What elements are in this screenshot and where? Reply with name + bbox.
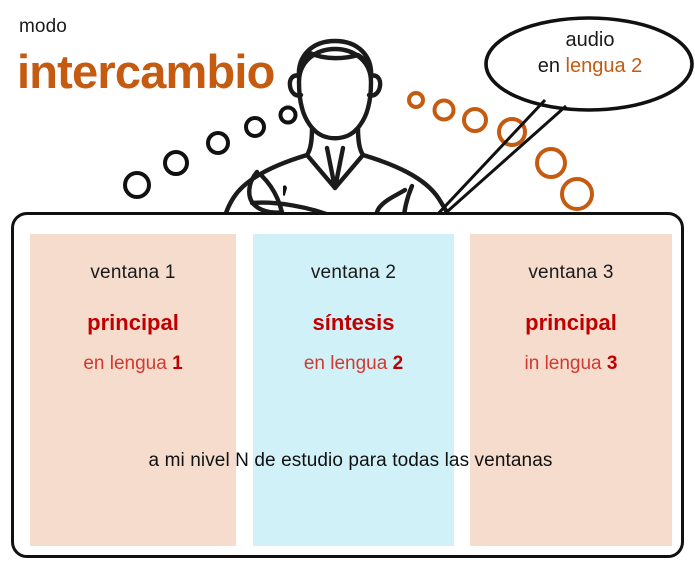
window-language-1-number: 1 xyxy=(172,353,183,374)
black-comma-mark xyxy=(283,185,287,196)
windows-panel: ventana 1 principal en lengua 1 ventana … xyxy=(11,212,684,558)
window-column-3-body: ventana 3 principal in lengua 3 xyxy=(470,234,672,375)
window-language-1-prefix: en lengua xyxy=(83,353,172,374)
window-role-1: principal xyxy=(30,310,236,336)
balloon-line-2-prefix: en xyxy=(538,55,566,77)
window-language-1: en lengua 1 xyxy=(30,353,236,375)
window-language-2-prefix: en lengua xyxy=(304,353,393,374)
window-column-2-body: ventana 2 síntesis en lengua 2 xyxy=(253,234,454,375)
window-label-3: ventana 3 xyxy=(470,262,672,284)
person-crossed-arms-icon xyxy=(223,41,455,225)
balloon-line-2: en lengua 2 xyxy=(510,53,670,79)
speech-balloon-text: audio en lengua 2 xyxy=(510,27,670,79)
window-language-3-number: 3 xyxy=(607,353,618,374)
window-column-1-body: ventana 1 principal en lengua 1 xyxy=(30,234,236,375)
window-label-1: ventana 1 xyxy=(30,262,236,284)
window-role-3: principal xyxy=(470,310,672,336)
windows-columns: ventana 1 principal en lengua 1 ventana … xyxy=(14,215,687,561)
window-column-2[interactable]: ventana 2 síntesis en lengua 2 xyxy=(253,234,454,546)
diagram-canvas: modo intercambio xyxy=(0,0,695,571)
window-language-3-prefix: in lengua xyxy=(525,353,607,374)
window-language-2-number: 2 xyxy=(393,353,404,374)
window-label-2: ventana 2 xyxy=(253,262,454,284)
window-role-2: síntesis xyxy=(253,310,454,336)
panel-footer-note: a mi nivel N de estudio para todas las v… xyxy=(14,450,687,472)
window-language-3: in lengua 3 xyxy=(470,353,672,375)
window-language-2: en lengua 2 xyxy=(253,353,454,375)
balloon-line-1: audio xyxy=(510,27,670,53)
window-column-1[interactable]: ventana 1 principal en lengua 1 xyxy=(30,234,236,546)
window-column-3[interactable]: ventana 3 principal in lengua 3 xyxy=(470,234,672,546)
balloon-line-2-highlight: lengua 2 xyxy=(566,55,643,77)
